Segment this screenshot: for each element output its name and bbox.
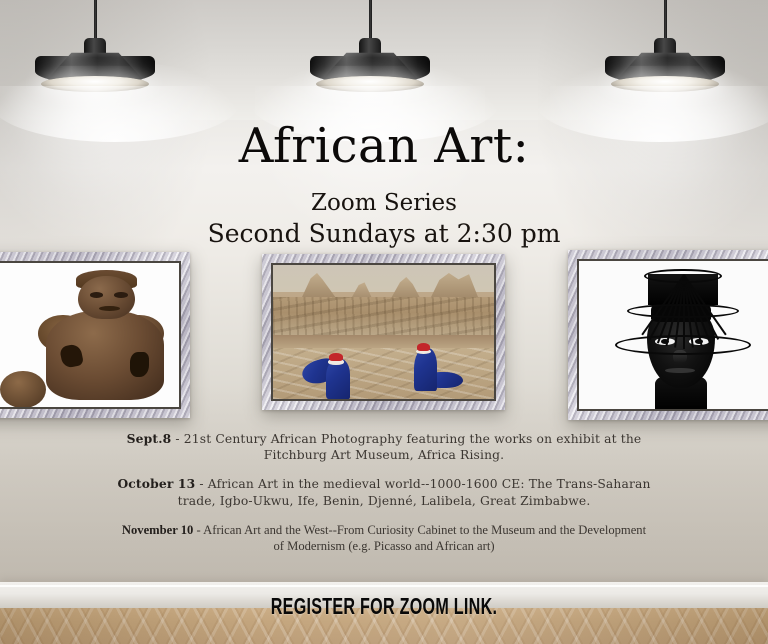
- program-date: Sept.8: [127, 431, 172, 446]
- wire-cage-headpiece-icon: [615, 267, 751, 359]
- program-description-line2: Fitchburg Art Museum, Africa Rising.: [0, 447, 768, 463]
- figure-1-red-hat-shape: [329, 353, 342, 361]
- page-title: African Art:: [0, 122, 768, 170]
- program-entry-line-1: October 13 - African Art in the medieval…: [0, 476, 768, 492]
- program-separator: -: [193, 523, 203, 537]
- program-separator: -: [171, 432, 183, 446]
- program-description-line1: 21st Century African Photography featuri…: [184, 432, 642, 446]
- desert-ridge-texture: [273, 297, 494, 337]
- program-description-line1: African Art in the medieval world--1000-…: [208, 477, 651, 491]
- program-separator: -: [195, 477, 207, 491]
- framed-artwork-center: [262, 254, 505, 410]
- program-description-line1: African Art and the West--From Curiosity…: [203, 523, 646, 537]
- artwork-right-canvas: [577, 259, 768, 411]
- figure-2-red-hat-shape: [417, 343, 430, 351]
- program-date: October 13: [117, 476, 195, 491]
- program-entry-october: October 13 - African Art in the medieval…: [0, 476, 768, 508]
- cage-portrait-artwork: [579, 261, 768, 409]
- artwork-center-canvas: [271, 263, 496, 401]
- cage-hoop-bottom: [615, 335, 751, 355]
- pendant-lamp-left: [30, 0, 160, 92]
- program-listing: Sept.8 - 21st Century African Photograph…: [0, 431, 768, 568]
- lamp-bulb-icon: [316, 76, 424, 92]
- bronze-head-shape: [78, 276, 135, 319]
- program-entry-line-1: November 10 - African Art and the West--…: [0, 522, 768, 539]
- gallery-poster: African Art: Zoom Series Second Sundays …: [0, 0, 768, 644]
- pendant-lamp-center: [305, 0, 435, 92]
- register-cta[interactable]: REGISTER FOR ZOOM LINK.: [115, 593, 653, 620]
- pendant-lamp-right: [600, 0, 730, 92]
- bronze-ball-shape: [0, 371, 46, 408]
- bronze-eye-right-shape: [114, 292, 127, 298]
- blue-robe-figure-2-shape: [414, 348, 436, 391]
- subtitle-series: Zoom Series: [0, 190, 768, 216]
- lamp-bulb-icon: [41, 76, 149, 92]
- program-entry-september: Sept.8 - 21st Century African Photograph…: [0, 431, 768, 463]
- cage-hoop-middle: [627, 304, 739, 319]
- program-entry-november: November 10 - African Art and the West--…: [0, 522, 768, 555]
- desert-landscape-artwork: [273, 265, 494, 399]
- artwork-left-canvas: [0, 261, 181, 409]
- program-description-line2: trade, Igbo-Ukwu, Ife, Benin, Djenné, La…: [0, 493, 768, 509]
- program-date: November 10: [122, 523, 193, 537]
- framed-artwork-right: [568, 250, 768, 420]
- bronze-figure-artwork: [0, 263, 179, 407]
- lamp-bulb-icon: [611, 76, 719, 92]
- bronze-chip-right-shape: [130, 352, 149, 376]
- bronze-eye-left-shape: [90, 292, 103, 298]
- framed-artwork-left: [0, 252, 190, 418]
- program-description-line2: of Modernism (e.g. Picasso and African a…: [0, 538, 768, 555]
- program-entry-line-1: Sept.8 - 21st Century African Photograph…: [0, 431, 768, 447]
- subtitle-schedule: Second Sundays at 2:30 pm: [0, 219, 768, 248]
